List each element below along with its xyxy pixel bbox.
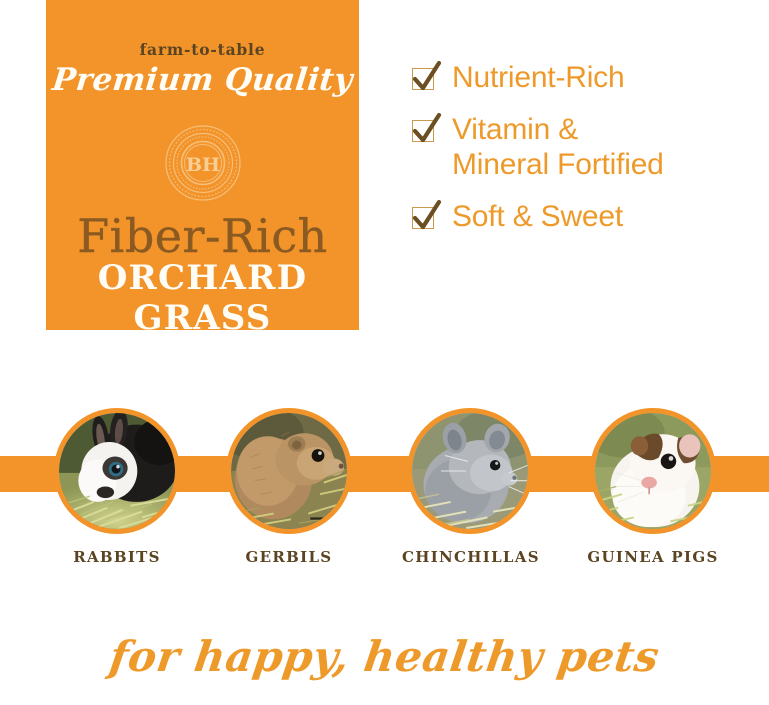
pet-circle-gerbil	[226, 408, 352, 534]
pet-species-strip: RABBITS	[0, 396, 769, 596]
pet-circle-rabbit	[54, 408, 180, 534]
feature-checklist: Nutrient-Rich Vitamin & Mineral Fortifie…	[412, 60, 757, 251]
feature-label-line2: Mineral Fortified	[452, 148, 664, 181]
feature-label: Nutrient-Rich	[452, 60, 624, 95]
gerbil-photo	[231, 413, 347, 529]
pet-label: CHINCHILLAS	[402, 548, 538, 566]
product-name-line1: Fiber-Rich	[46, 212, 359, 260]
pet-label: GUINEA PIGS	[585, 548, 721, 566]
seal-monogram-text: BH	[185, 154, 219, 176]
brand-seal-logo: BH	[164, 124, 242, 202]
feature-label-line1: Vitamin &	[452, 113, 578, 146]
feature-label: Soft & Sweet	[452, 199, 623, 234]
pet-circle-chinchilla	[407, 408, 533, 534]
hero-panel: farm-to-table Premium Quality BH Fiber-R…	[46, 0, 359, 330]
chinchilla-photo	[412, 413, 528, 529]
pet-circle-guinea-pig	[590, 408, 716, 534]
hero-eyebrow-text: farm-to-table	[46, 40, 359, 59]
pet-label: GERBILS	[221, 548, 357, 566]
feature-item-soft-sweet: Soft & Sweet	[412, 199, 757, 234]
hero-subtitle-text: Premium Quality	[44, 62, 361, 98]
pet-label: RABBITS	[49, 548, 185, 566]
feature-item-vitamin-mineral: Vitamin & Mineral Fortified	[412, 112, 757, 182]
checkmark-icon	[412, 68, 436, 92]
footer-tagline: for happy, healthy pets	[0, 632, 769, 681]
checkmark-icon	[412, 120, 436, 144]
product-name-line2: ORCHARD GRASS	[46, 258, 359, 338]
pet-item-rabbit: RABBITS	[49, 408, 185, 566]
pet-item-guinea-pig: GUINEA PIGS	[585, 408, 721, 566]
guinea-pig-photo	[595, 413, 711, 529]
pet-item-chinchilla: CHINCHILLAS	[402, 408, 538, 566]
feature-item-nutrient-rich: Nutrient-Rich	[412, 60, 757, 95]
rabbit-photo	[59, 413, 175, 529]
checkmark-icon	[412, 207, 436, 231]
pet-item-gerbil: GERBILS	[221, 408, 357, 566]
feature-label-multiline: Vitamin & Mineral Fortified	[452, 112, 664, 182]
